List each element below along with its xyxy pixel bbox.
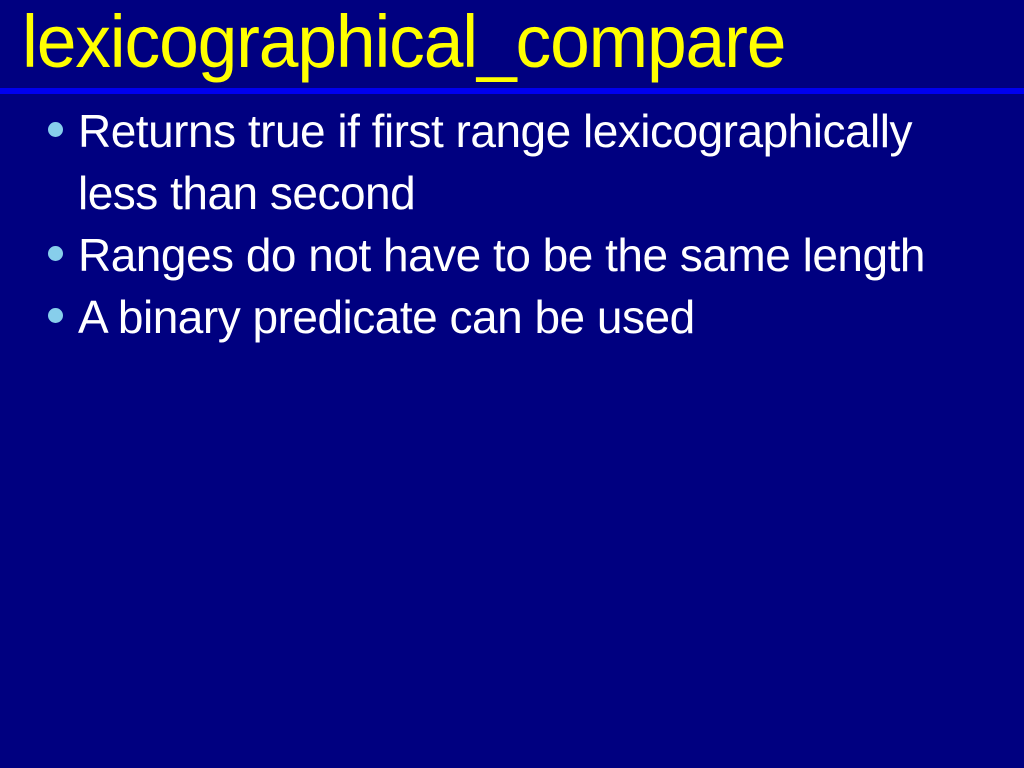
bullet-dot-icon xyxy=(48,308,63,323)
bullet-dot-icon xyxy=(48,122,63,137)
slide-body-area: Returns true if first range lexicographi… xyxy=(0,100,1024,768)
list-item: Returns true if first range lexicographi… xyxy=(0,100,1024,224)
page-title: lexicographical_compare xyxy=(22,0,785,88)
slide-title-area: lexicographical_compare xyxy=(0,0,1024,90)
list-item: A binary predicate can be used xyxy=(0,286,1024,348)
bullet-dot-icon xyxy=(48,246,63,261)
list-item: Ranges do not have to be the same length xyxy=(0,224,1024,286)
bullet-text: Returns true if first range lexicographi… xyxy=(78,100,938,224)
bullet-text: Ranges do not have to be the same length xyxy=(78,224,938,286)
bullet-text: A binary predicate can be used xyxy=(78,286,938,348)
presentation-slide: lexicographical_compare Returns true if … xyxy=(0,0,1024,768)
bullet-list: Returns true if first range lexicographi… xyxy=(0,100,1024,348)
title-divider xyxy=(0,88,1024,94)
